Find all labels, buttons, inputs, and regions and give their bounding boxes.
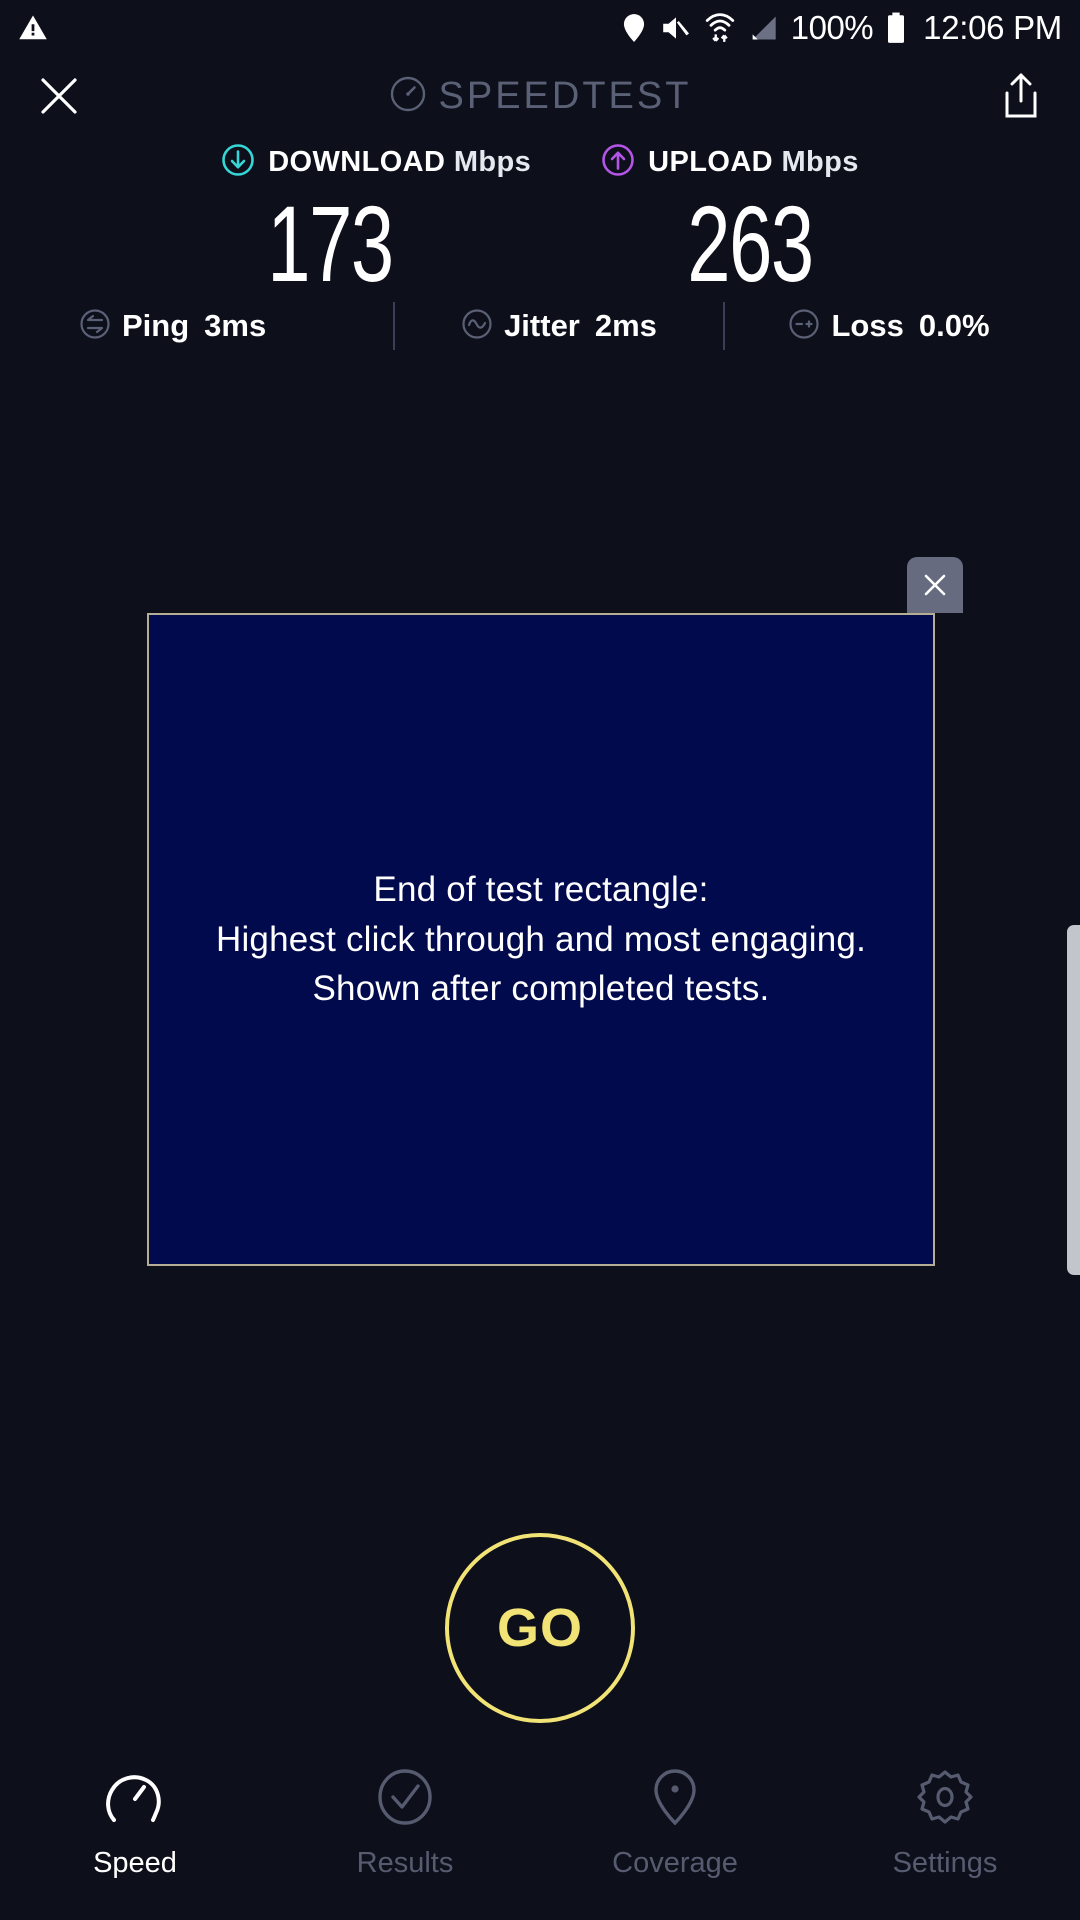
ping-value: 3ms (204, 308, 266, 344)
ping-icon (79, 308, 111, 345)
speedometer-icon (104, 1768, 166, 1831)
nav-label-coverage: Coverage (612, 1847, 738, 1880)
cell-signal-icon (748, 14, 778, 42)
warning-triangle-icon (18, 13, 48, 43)
download-speed-value: 173 (179, 190, 481, 298)
nav-label-speed: Speed (93, 1847, 177, 1880)
gear-icon (916, 1768, 974, 1831)
metric-values-row: 173 263 (0, 190, 1080, 298)
jitter-label: Jitter (504, 308, 580, 344)
nav-label-results: Results (357, 1847, 454, 1880)
app-screen: 100% 12:06 PM SP (0, 0, 1080, 1920)
upload-speed-value: 263 (599, 190, 901, 298)
jitter-icon (461, 308, 493, 345)
metric-labels-row: DOWNLOAD Mbps UPLOAD Mbps (0, 140, 1080, 184)
status-bar-clock: 12:06 PM (923, 9, 1062, 47)
nav-item-settings[interactable]: Settings (810, 1768, 1080, 1880)
loss-label: Loss (831, 308, 903, 344)
system-status-bar: 100% 12:06 PM (0, 0, 1080, 56)
nav-label-settings: Settings (893, 1847, 998, 1880)
download-unit-text: Mbps (454, 146, 531, 178)
loss-stat: Loss 0.0% (725, 308, 1053, 345)
check-circle-icon (375, 1768, 435, 1831)
go-button[interactable]: GO (445, 1533, 635, 1723)
map-pin-icon (650, 1768, 700, 1831)
status-bar-right: 100% 12:06 PM (621, 9, 1062, 47)
download-arrow-icon (221, 143, 255, 182)
ad-copy: End of test rectangle: Highest click thr… (208, 865, 874, 1014)
upload-metric-label: UPLOAD Mbps (601, 143, 859, 182)
nav-item-speed[interactable]: Speed (0, 1768, 270, 1880)
download-label-text: DOWNLOAD (268, 146, 445, 178)
close-app-button[interactable] (36, 73, 82, 119)
brand-logo: SPEEDTEST (389, 75, 692, 118)
go-button-label: GO (497, 1597, 583, 1659)
nav-item-results[interactable]: Results (270, 1768, 540, 1880)
vertical-scrollbar[interactable] (1067, 925, 1080, 1275)
advertisement-banner[interactable]: End of test rectangle: Highest click thr… (147, 613, 935, 1266)
download-metric-label: DOWNLOAD Mbps (221, 143, 531, 182)
loss-icon (788, 308, 820, 345)
speedtest-gauge-icon (389, 75, 427, 118)
bottom-navigation: Speed Results Coverage (0, 1754, 1080, 1920)
results-summary: DOWNLOAD Mbps UPLOAD Mbps 173 263 (0, 140, 1080, 298)
jitter-value: 2ms (595, 308, 657, 344)
advertisement-container: End of test rectangle: Highest click thr… (147, 613, 935, 1266)
status-bar-left (18, 13, 48, 43)
location-pin-icon (621, 13, 647, 43)
battery-percent-label: 100% (791, 9, 873, 47)
ad-line-1: End of test rectangle: (216, 865, 866, 915)
share-button[interactable] (998, 70, 1044, 122)
battery-full-icon (886, 12, 906, 44)
wifi-icon (705, 12, 735, 44)
ad-line-2: Highest click through and most engaging. (216, 915, 866, 965)
ad-line-3: Shown after completed tests. (216, 964, 866, 1014)
ping-stat: Ping 3ms (27, 308, 393, 345)
upload-label-text: UPLOAD (648, 146, 773, 178)
page-title: SPEEDTEST (439, 75, 692, 118)
jitter-stat: Jitter 2ms (395, 308, 723, 345)
upload-arrow-icon (601, 143, 635, 182)
loss-value: 0.0% (919, 308, 990, 344)
app-header: SPEEDTEST (0, 56, 1080, 136)
ad-close-button[interactable] (907, 557, 963, 613)
mute-icon (660, 13, 692, 43)
nav-item-coverage[interactable]: Coverage (540, 1768, 810, 1880)
ping-label: Ping (122, 308, 189, 344)
upload-unit-text: Mbps (781, 146, 858, 178)
network-stats-row: Ping 3ms Jitter 2ms Loss 0.0% (0, 296, 1080, 356)
